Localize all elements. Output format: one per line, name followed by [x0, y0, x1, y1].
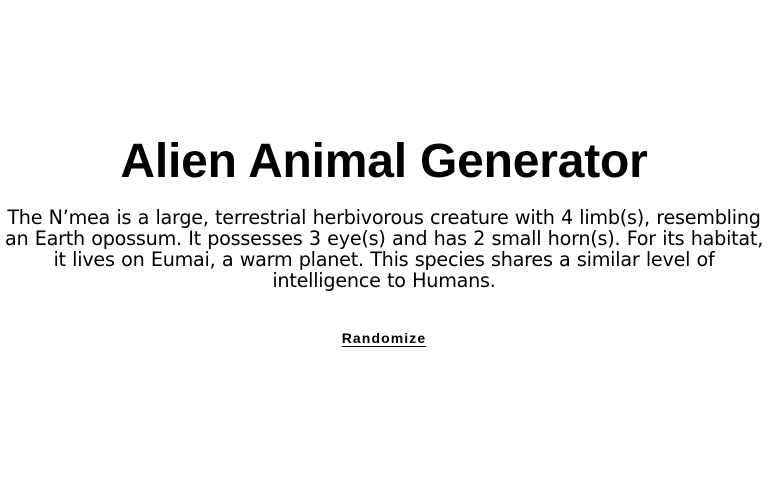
app-root: Alien Animal Generator The N’mea is a la… [0, 0, 768, 480]
page-title: Alien Animal Generator [0, 134, 768, 190]
action-row: Randomize [0, 328, 768, 347]
creature-description: The N’mea is a large, terrestrial herbiv… [4, 207, 764, 291]
randomize-link[interactable]: Randomize [342, 329, 427, 347]
